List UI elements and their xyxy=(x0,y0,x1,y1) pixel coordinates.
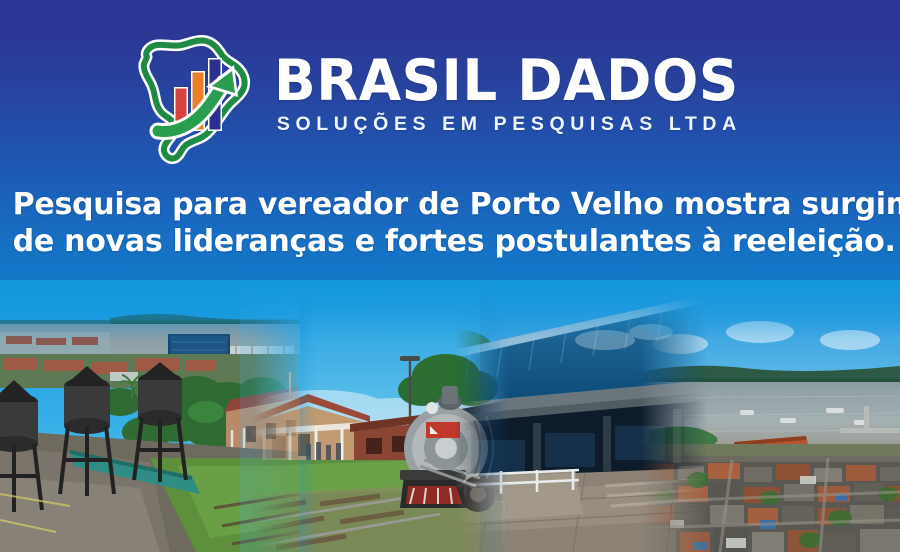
logo-header: BRASIL DADOS SOLUÇÕES EM PESQUISAS LTDA xyxy=(0,0,900,190)
logo-text-block: BRASIL DADOS SOLUÇÕES EM PESQUISAS LTDA xyxy=(274,54,758,136)
brand-tagline: SOLUÇÕES EM PESQUISAS LTDA xyxy=(277,113,742,136)
aerial-river-rooftops-photo xyxy=(640,280,900,552)
headline: Pesquisa para vereador de Porto Velho mo… xyxy=(0,186,900,260)
headline-line-1: Pesquisa para vereador de Porto Velho mo… xyxy=(13,186,888,223)
headline-line-2: de novas lideranças e fortes postulantes… xyxy=(13,223,888,260)
logo-lockup: BRASIL DADOS SOLUÇÕES EM PESQUISAS LTDA xyxy=(130,25,758,165)
brazil-map-bar-chart-arrow-logo xyxy=(130,25,258,165)
photo-collage-strip: CÂMARA MUNICIPAL DE PALÁCIO GOV. JO xyxy=(0,280,900,552)
brand-name: BRASIL DADOS xyxy=(274,54,739,108)
brasil-dados-news-banner: BRASIL DADOS SOLUÇÕES EM PESQUISAS LTDA … xyxy=(0,0,900,552)
